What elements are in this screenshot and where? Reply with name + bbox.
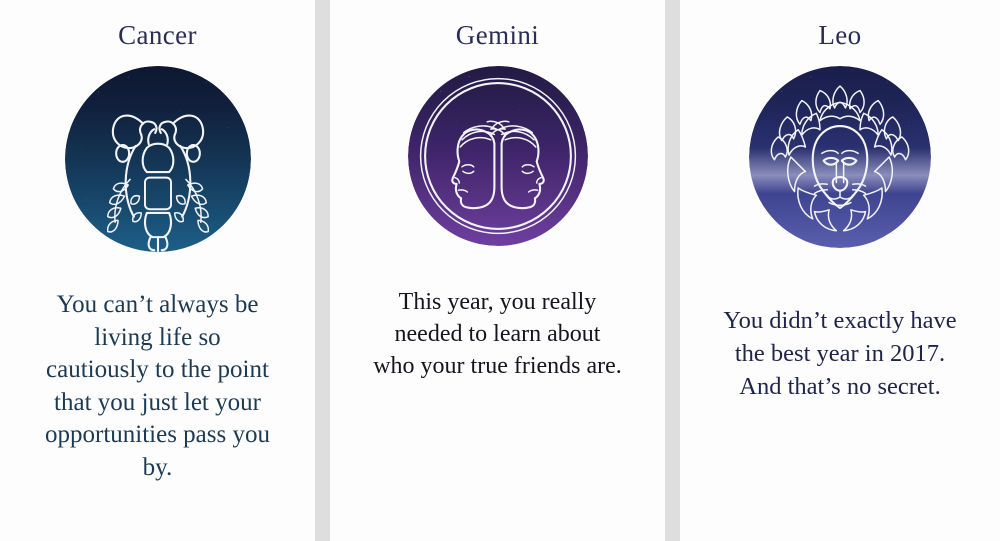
zodiac-board: Cancer bbox=[0, 0, 1000, 541]
sign-title-cancer: Cancer bbox=[118, 22, 197, 49]
gemini-twins-icon bbox=[408, 66, 588, 246]
zodiac-panel-leo: Leo bbox=[680, 0, 1000, 541]
sign-title-gemini: Gemini bbox=[456, 22, 539, 49]
sign-title-leo: Leo bbox=[818, 22, 861, 49]
quote-cancer: You can’t always be living life so cauti… bbox=[43, 289, 273, 484]
quote-leo: You didn’t exactly have the best year in… bbox=[714, 304, 966, 403]
zodiac-panel-cancer: Cancer bbox=[0, 0, 315, 541]
leo-lion-icon bbox=[749, 66, 931, 248]
panel-divider-left bbox=[315, 0, 330, 541]
leo-emblem bbox=[749, 66, 931, 248]
zodiac-panel-gemini: Gemini bbox=[330, 0, 665, 541]
cancer-crab-icon bbox=[65, 66, 251, 252]
gemini-emblem bbox=[408, 66, 588, 246]
panel-divider-right bbox=[665, 0, 680, 541]
quote-gemini: This year, you really needed to learn ab… bbox=[373, 286, 623, 382]
cancer-emblem bbox=[65, 66, 251, 252]
